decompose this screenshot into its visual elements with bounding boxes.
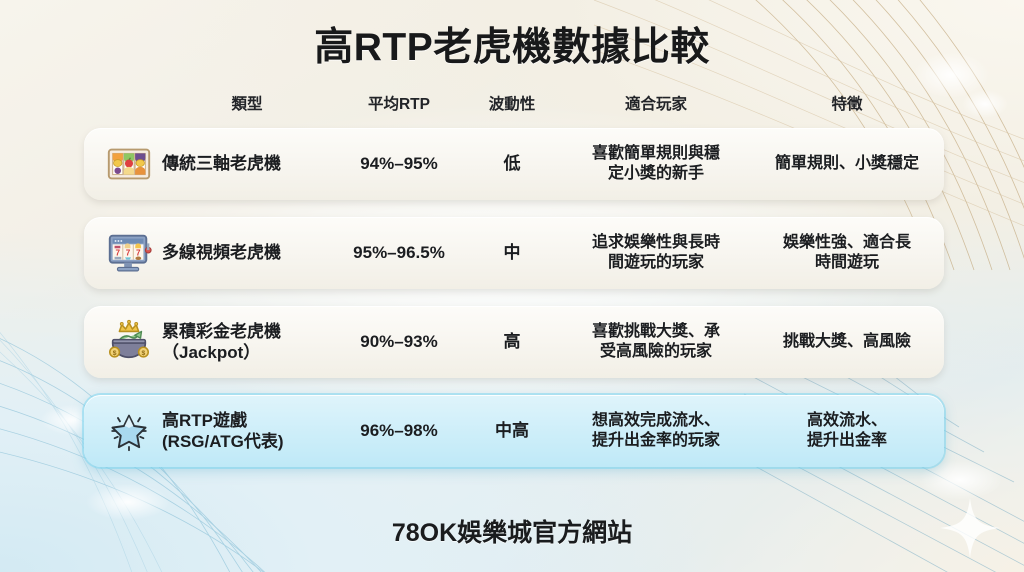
svg-text:$: $ bbox=[113, 350, 117, 357]
svg-text:$: $ bbox=[142, 350, 146, 357]
row-volatility: 低 bbox=[466, 128, 558, 200]
row-volatility: 高 bbox=[466, 306, 558, 378]
header-features: 特徵 bbox=[754, 92, 940, 114]
row-type: 累積彩金老虎機 （Jackpot） bbox=[162, 306, 332, 378]
row-type: 多線視頻老虎機 bbox=[162, 217, 332, 289]
row-avg-rtp: 90%–93% bbox=[332, 306, 466, 378]
row-type: 傳統三軸老虎機 bbox=[162, 128, 332, 200]
row-features: 簡單規則、小獎穩定 bbox=[754, 128, 940, 200]
row-icon: $ $ bbox=[98, 306, 160, 378]
header-avg-rtp: 平均RTP bbox=[332, 92, 466, 114]
svg-text:7: 7 bbox=[126, 249, 131, 258]
row-type: 高RTP遊戲 (RSG/ATG代表) bbox=[162, 395, 332, 467]
row-features: 娛樂性強、適合長 時間遊玩 bbox=[754, 217, 940, 289]
footer-brand: 78OK娛樂城官方網站 bbox=[0, 513, 1024, 549]
row-audience: 追求娛樂性與長時 間遊玩的玩家 bbox=[558, 217, 754, 289]
slot-machine-fruit-icon bbox=[103, 138, 155, 190]
row-audience: 喜歡簡單規則與穩 定小獎的新手 bbox=[558, 128, 754, 200]
row-features: 高效流水、 提升出金率 bbox=[754, 395, 940, 467]
row-icon bbox=[98, 395, 160, 467]
comparison-table: 傳統三軸老虎機 94%–95% 低 喜歡簡單規則與穩 定小獎的新手 簡單規則、小… bbox=[84, 128, 944, 484]
svg-text:7: 7 bbox=[136, 249, 141, 258]
row-volatility: 中 bbox=[466, 217, 558, 289]
header-type: 類型 bbox=[162, 92, 332, 114]
row-avg-rtp: 94%–95% bbox=[332, 128, 466, 200]
row-icon: 7 7 7 bbox=[98, 217, 160, 289]
row-avg-rtp: 96%–98% bbox=[332, 395, 466, 467]
row-volatility: 中高 bbox=[466, 395, 558, 467]
header-audience: 適合玩家 bbox=[558, 92, 754, 114]
table-row[interactable]: 傳統三軸老虎機 94%–95% 低 喜歡簡單規則與穩 定小獎的新手 簡單規則、小… bbox=[84, 128, 944, 200]
row-avg-rtp: 95%–96.5% bbox=[332, 217, 466, 289]
row-features: 挑戰大獎、高風險 bbox=[754, 306, 940, 378]
table-header-row: 類型 平均RTP 波動性 適合玩家 特徵 bbox=[84, 92, 944, 118]
header-volatility: 波動性 bbox=[466, 92, 558, 114]
sparkle-star-icon bbox=[103, 405, 155, 457]
table-row[interactable]: $ $ 累積彩金老虎機 （Jackpot） 90%–93% 高 喜歡挑戰大獎、承… bbox=[84, 306, 944, 378]
table-row-highlighted[interactable]: 高RTP遊戲 (RSG/ATG代表) 96%–98% 中高 想高效完成流水、 提… bbox=[84, 395, 944, 467]
row-icon bbox=[98, 128, 160, 200]
video-slot-monitor-icon: 7 7 7 bbox=[103, 227, 155, 279]
table-row[interactable]: 7 7 7 多線視頻老虎機 95%–96.5% 中 追求娛樂性與長時 bbox=[84, 217, 944, 289]
page-title: 高RTP老虎機數據比較 bbox=[0, 16, 1024, 72]
row-audience: 想高效完成流水、 提升出金率的玩家 bbox=[558, 395, 754, 467]
row-audience: 喜歡挑戰大獎、承 受高風險的玩家 bbox=[558, 306, 754, 378]
jackpot-pot-crown-icon: $ $ bbox=[103, 316, 155, 368]
svg-text:7: 7 bbox=[115, 249, 120, 258]
